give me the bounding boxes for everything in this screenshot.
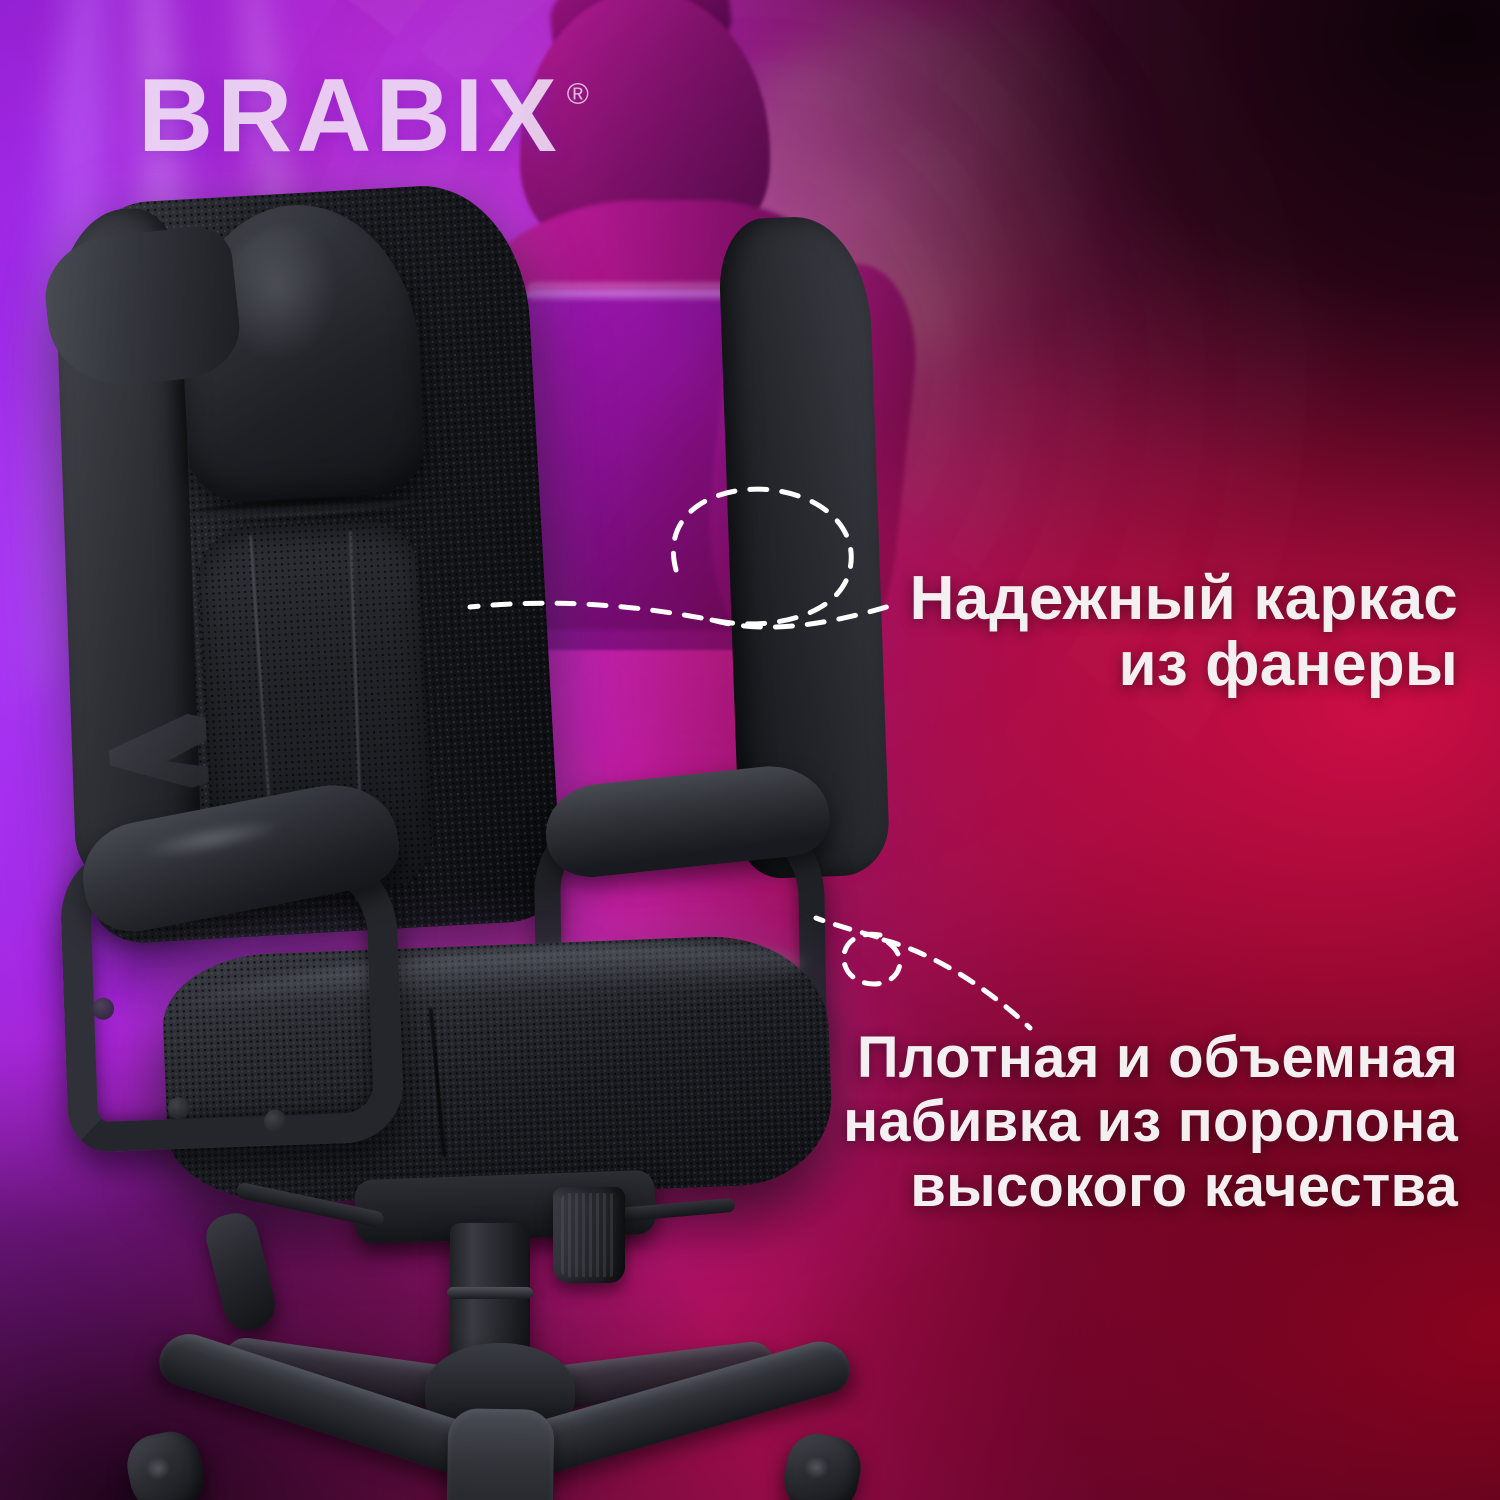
office-chair-product-image: [55, 175, 885, 1465]
caster-wheel: [777, 1428, 866, 1500]
height-adjust-lever: [201, 1208, 280, 1335]
registered-trademark-icon: ®: [567, 80, 589, 110]
logo-wordmark: BRABIX: [138, 68, 561, 166]
brabix-logo: BRABIX ®: [138, 68, 589, 166]
callout-frame-line-1: Надежный каркас: [910, 566, 1458, 632]
base-spoke: [446, 1408, 555, 1500]
callout-padding: Плотная и объемная набивка из поролона в…: [843, 1026, 1458, 1219]
cylinder-ring: [447, 1287, 533, 1299]
ad-canvas: BRABIX ® Надежный каркас из фанеры Плотн…: [0, 0, 1500, 1500]
tension-adjust-knob: [553, 1187, 625, 1283]
callout-padding-line-3: высокого качества: [843, 1155, 1458, 1219]
chair-armrest-left: [57, 789, 419, 1161]
chair-five-star-base: [95, 1335, 885, 1500]
callout-padding-line-2: набивка из поролона: [843, 1090, 1458, 1154]
caster-wheel: [121, 1426, 210, 1500]
callout-frame: Надежный каркас из фанеры: [910, 566, 1458, 699]
callout-padding-line-1: Плотная и объемная: [843, 1026, 1458, 1090]
callout-frame-line-2: из фанеры: [910, 632, 1458, 698]
